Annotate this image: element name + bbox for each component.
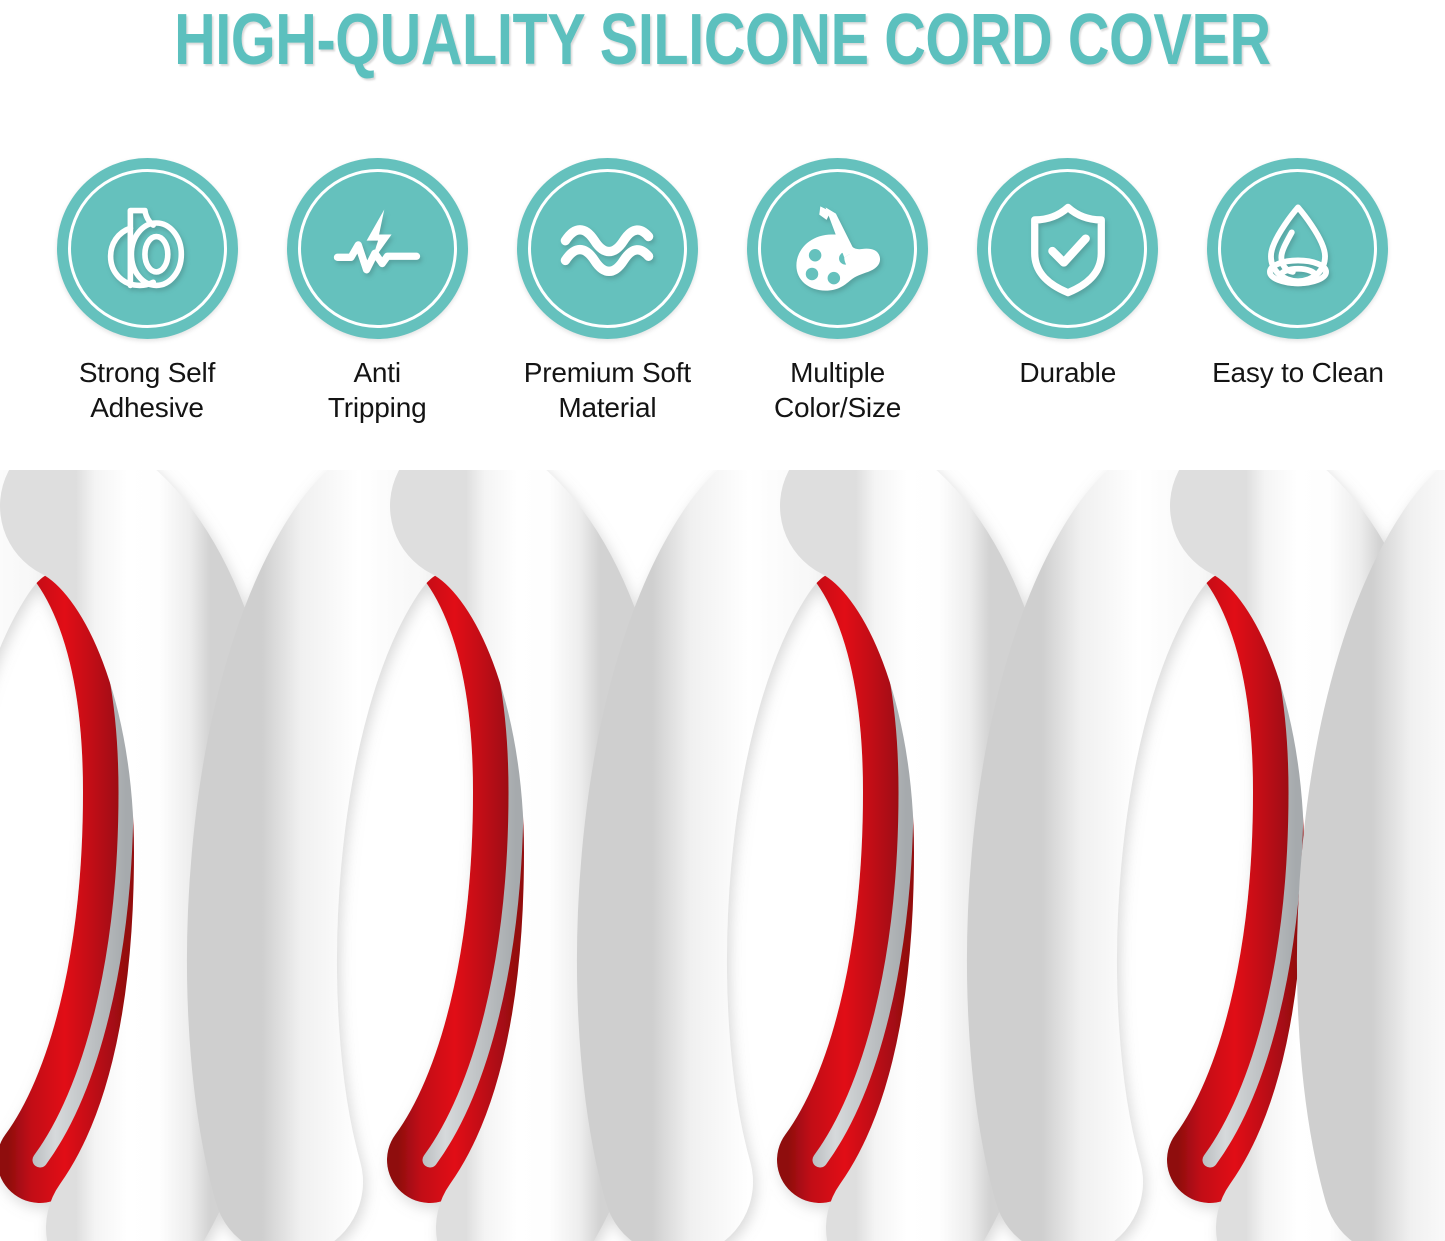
tape-roll-icon <box>95 197 199 301</box>
feature-label: Multiple Color/Size <box>774 355 901 425</box>
feature-premium-soft-material: Premium Soft Material <box>506 158 708 425</box>
feature-list: Strong Self Adhesive Anti Tripping Premi… <box>46 158 1399 418</box>
feature-badge <box>747 158 928 339</box>
paint-palette-icon <box>786 197 890 301</box>
silicone-cord-cover-coil <box>0 470 1445 1241</box>
page-title: HIGH-QUALITY SILICONE CORD COVER <box>0 0 1445 80</box>
feature-durable: Durable <box>967 158 1169 390</box>
feature-easy-to-clean: Easy to Clean <box>1197 158 1399 390</box>
feature-strong-self-adhesive: Strong Self Adhesive <box>46 158 248 425</box>
feature-label: Premium Soft Material <box>524 355 691 425</box>
lightning-pulse-icon <box>325 197 429 301</box>
feature-label: Anti Tripping <box>328 355 427 425</box>
feature-badge <box>57 158 238 339</box>
water-droplet-icon <box>1246 197 1350 301</box>
page-title-text: HIGH-QUALITY SILICONE CORD COVER <box>174 4 1271 76</box>
feature-badge <box>517 158 698 339</box>
feature-badge <box>287 158 468 339</box>
feature-anti-tripping: Anti Tripping <box>276 158 478 425</box>
feature-label: Strong Self Adhesive <box>79 355 215 425</box>
feature-multiple-color-size: Multiple Color/Size <box>737 158 939 425</box>
product-image <box>0 470 1445 1241</box>
feature-label: Easy to Clean <box>1212 355 1384 390</box>
feature-badge <box>1207 158 1388 339</box>
wavy-lines-icon <box>555 197 659 301</box>
shield-check-icon <box>1016 197 1120 301</box>
feature-label: Durable <box>1019 355 1116 390</box>
feature-badge <box>977 158 1158 339</box>
